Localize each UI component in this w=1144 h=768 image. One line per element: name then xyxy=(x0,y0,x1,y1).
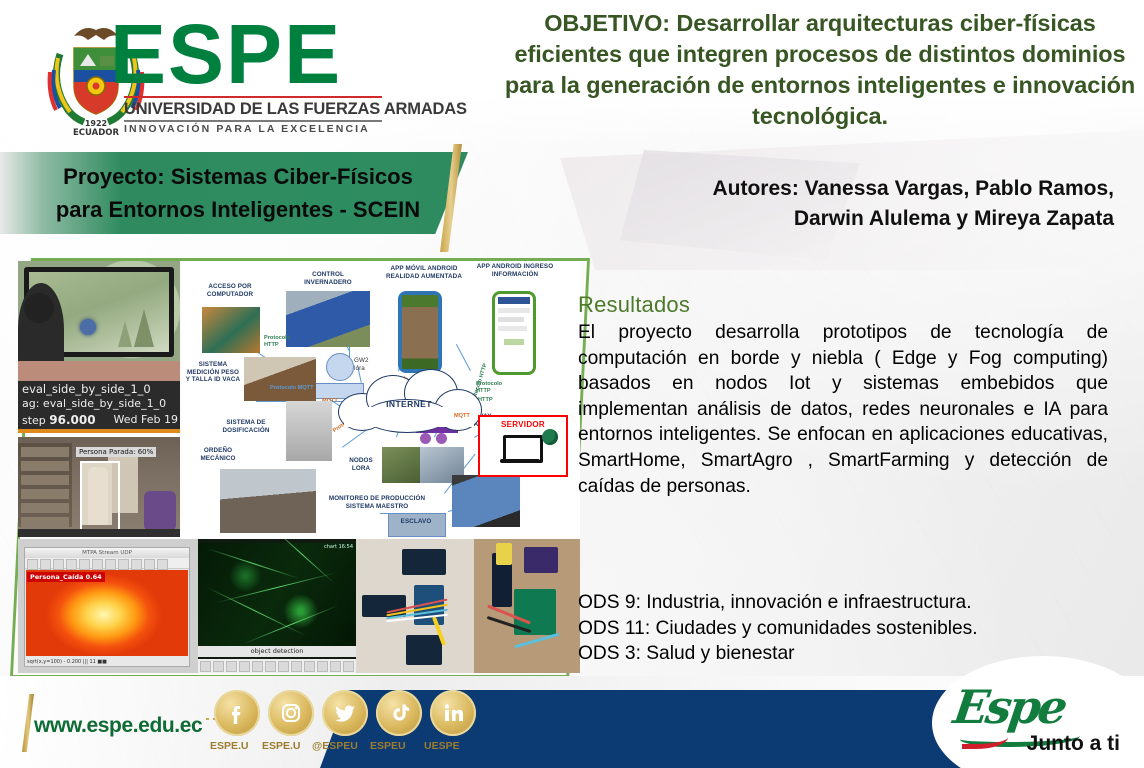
photo-object-detection: chart 16:54 object detection xyxy=(198,539,356,673)
internet-cloud: INTERNET xyxy=(334,369,484,433)
toolbar-button[interactable] xyxy=(131,559,142,570)
social-media-row: ESPE.U ESPE.U @ESPEU ESPEU xyxy=(214,690,474,752)
espe-wordmark-text: ESPE xyxy=(110,8,410,100)
instagram-icon[interactable] xyxy=(268,690,314,736)
collage-content: eval_side_by_side_1_0 ag: eval_side_by_s… xyxy=(18,261,580,673)
tiktok-icon[interactable] xyxy=(376,690,422,736)
diagram-label-esclavo: ESCLAVO xyxy=(388,518,444,526)
diagram-phone-info xyxy=(492,291,536,375)
toolbar-button[interactable] xyxy=(144,559,155,570)
agent-marker xyxy=(80,319,96,335)
authors-block: Autores: Vanessa Vargas, Pablo Ramos, Da… xyxy=(560,174,1130,234)
object-detection-timestamp: chart 16:54 xyxy=(324,544,353,550)
internet-cloud-label: INTERNET xyxy=(334,399,484,409)
telemetry-step: step 96.000 xyxy=(22,413,96,427)
tiktok-label: ESPEU xyxy=(370,740,406,752)
thermal-detection-label: Persona_Caída 0.64 xyxy=(27,572,105,582)
toolbar-button[interactable] xyxy=(157,559,168,570)
facebook-label: ESPE.U xyxy=(210,740,249,752)
project-title-banner: Proyecto: Sistemas Ciber-Físicos para En… xyxy=(0,152,500,234)
results-body: El proyecto desarrolla prototipos de tec… xyxy=(578,320,1108,499)
results-section: Resultados El proyecto desarrolla protot… xyxy=(578,292,1108,499)
photo-telemetry-overlay: eval_side_by_side_1_0 ag: eval_side_by_s… xyxy=(18,381,180,433)
tree-shape-2 xyxy=(118,321,132,347)
toolbar-button[interactable] xyxy=(27,559,38,570)
diagram-label-acceso-computador: ACCESO POR COMPUTADOR xyxy=(192,283,268,298)
toolbar-button[interactable] xyxy=(118,559,129,570)
desk-surface xyxy=(18,361,180,381)
espe-institutional-logo: 1922 ECUADOR ESPE UNIVERSIDAD DE LAS FUE… xyxy=(0,0,470,150)
telemetry-run-name: eval_side_by_side_1_0 xyxy=(22,382,151,396)
thermal-window-title: MTPA Stream UDP xyxy=(25,548,189,558)
telemetry-progress-bar xyxy=(18,429,180,433)
photo-sensor-hardware-1 xyxy=(356,539,474,673)
bag-shape xyxy=(144,491,176,531)
diagram-photo-laptop xyxy=(452,475,520,527)
telemetry-date: Wed Feb 19 xyxy=(114,413,178,426)
diagram-label-app-ar: APP MÓVIL ANDROID REALIDAD AUMENTADA xyxy=(378,265,470,280)
ods-list: ODS 9: Industria, innovación e infraestr… xyxy=(578,590,1108,667)
toolbar-button[interactable] xyxy=(79,559,90,570)
diagram-photo-dosificacion xyxy=(286,401,332,461)
twitter-icon[interactable] xyxy=(322,690,368,736)
toolbar-button[interactable] xyxy=(226,661,237,672)
toolbar-button[interactable] xyxy=(53,559,64,570)
diagram-photo-medicion xyxy=(244,357,316,401)
connector xyxy=(456,344,471,371)
architecture-diagram: ACCESO POR COMPUTADOR CONTROL INVERNADER… xyxy=(182,261,580,539)
logo-slogan-line: INNOVACIÓN PARA LA EXCELENCIA xyxy=(124,123,386,135)
os-taskbar: Actividades Unknown > xyxy=(18,529,180,537)
diagram-label-ordeno: ORDEÑO MECÁNICO xyxy=(188,447,248,462)
toolbar-button[interactable] xyxy=(265,661,276,672)
object-detection-image xyxy=(198,543,356,653)
diagram-label-monitoreo: MONITOREO DE PRODUCCIÓN SISTEMA MAESTRO xyxy=(328,495,426,510)
toolbar-button[interactable] xyxy=(213,661,224,672)
detection-bounding-box xyxy=(80,461,120,535)
object-detection-caption: object detection xyxy=(198,646,356,657)
thermal-window: MTPA Stream UDP Persona_Caída 0.64 sqrt(… xyxy=(24,547,190,667)
toolbar-button[interactable] xyxy=(278,661,289,672)
twitter-label: @ESPEU xyxy=(312,740,358,752)
diagram-protocol-mqtt-5: MQTT xyxy=(454,413,470,419)
espe-junto-a-ti-logo: Espe Junto a ti xyxy=(946,680,1126,758)
linkedin-label: UESPE xyxy=(424,740,460,752)
object-detection-toolbar[interactable] xyxy=(198,659,356,673)
detection-label: Persona Parada: 60% xyxy=(76,447,156,457)
toolbar-button[interactable] xyxy=(252,661,263,672)
facebook-icon[interactable] xyxy=(214,690,260,736)
logo-red-rule xyxy=(124,96,382,98)
diagram-gateway-antenna-1 xyxy=(420,433,431,444)
diagram-photo-acceso xyxy=(202,307,260,353)
photo-thermal-fall-detection: MTPA Stream UDP Persona_Caída 0.64 sqrt(… xyxy=(18,539,198,673)
poster-canvas: 1922 ECUADOR ESPE UNIVERSIDAD DE LAS FUE… xyxy=(0,0,1144,768)
svg-text:1922: 1922 xyxy=(85,119,107,128)
toolbar-button[interactable] xyxy=(330,661,341,672)
toolbar-button[interactable] xyxy=(291,661,302,672)
telemetry-step-value: 96.000 xyxy=(49,413,95,427)
diagram-label-app-info: APP ANDROID INGRESO INFORMACIÓN xyxy=(476,263,554,278)
toolbar-button[interactable] xyxy=(343,661,354,672)
banner-line-1: Proyecto: Sistemas Ciber-Físicos xyxy=(28,160,448,193)
diagram-protocol-mqtt-2: Protocolo MQTT xyxy=(270,385,314,392)
ods-item: ODS 9: Industria, innovación e infraestr… xyxy=(578,590,1108,616)
authors-line-1: Autores: Vanessa Vargas, Pablo Ramos, xyxy=(560,174,1114,204)
objective-text: OBJETIVO: Desarrollar arquitecturas cibe… xyxy=(500,8,1140,132)
image-collage-frame: eval_side_by_side_1_0 ag: eval_side_by_s… xyxy=(10,258,590,678)
logo-university-line: UNIVERSIDAD DE LAS FUERZAS ARMADAS xyxy=(124,100,386,119)
banner-text: Proyecto: Sistemas Ciber-Físicos para En… xyxy=(28,160,448,226)
diagram-label-nodos-lora: NODOS LORA xyxy=(342,457,380,472)
ods-item: ODS 11: Ciudades y comunidades sostenibl… xyxy=(578,616,1108,642)
toolbar-button[interactable] xyxy=(304,661,315,672)
photo-rl-simulation xyxy=(18,261,180,381)
photo-sensor-hardware-2 xyxy=(474,539,580,673)
diagram-phone-ar xyxy=(398,291,442,373)
logo-grey-rule xyxy=(124,120,382,122)
globe-icon xyxy=(542,429,558,445)
toolbar-button[interactable] xyxy=(40,559,51,570)
toolbar-button[interactable] xyxy=(92,559,103,570)
footer: www.espe.edu.ec ESPE.U ESPE.U @ESPEU xyxy=(0,676,1144,768)
toolbar-button[interactable] xyxy=(200,661,211,672)
server-box: SERVIDOR xyxy=(478,415,568,477)
diagram-label-control-invernadero: CONTROL INVERNADERO xyxy=(290,271,366,286)
toolbar-button[interactable] xyxy=(66,559,77,570)
server-label: SERVIDOR xyxy=(480,420,566,429)
toolbar-button[interactable] xyxy=(105,559,116,570)
linkedin-icon[interactable] xyxy=(430,690,476,736)
laptop-icon xyxy=(500,435,540,463)
thermal-heatmap-image xyxy=(26,570,188,656)
espe-script-wordmark: Espe xyxy=(950,680,1128,734)
svg-text:ECUADOR: ECUADOR xyxy=(73,128,120,138)
shelf-shape xyxy=(18,443,72,527)
person-head xyxy=(24,293,54,323)
diagram-label-dosificacion: SISTEMA DE DOSIFICACIÓN xyxy=(212,419,280,434)
diagram-protocol-http-1: Protocolo HTTP xyxy=(264,335,304,348)
diagram-protocol-http-4: HTTP xyxy=(478,397,493,404)
instagram-label: ESPE.U xyxy=(262,740,301,752)
telemetry-step-label: step xyxy=(22,414,46,427)
espe-wordmark: ESPE xyxy=(110,8,410,100)
toolbar-button[interactable] xyxy=(239,661,250,672)
thermal-toolbar[interactable] xyxy=(25,558,189,569)
telemetry-tag: ag: eval_side_by_side_1_0 xyxy=(22,397,166,410)
authors-line-2: Darwin Alulema y Mireya Zapata xyxy=(560,204,1114,234)
thermal-status-bar: sqrt(x,y=100) - 0.200 ||| 11 ■■ xyxy=(27,659,107,665)
diagram-label-medicion: SISTEMA MEDICIÓN PESO Y TALLA ID VACA xyxy=(184,361,242,384)
photo-fall-detection: Persona Parada: 60% Actividades Unknown … xyxy=(18,437,180,537)
espe-tagline: Junto a ti xyxy=(1027,732,1120,756)
diagram-photo-ordeno xyxy=(220,469,316,533)
website-url[interactable]: www.espe.edu.ec xyxy=(34,714,202,738)
diagram-photo-nodo-1 xyxy=(382,447,420,483)
banner-line-2: para Entornos Inteligentes - SCEIN xyxy=(28,193,448,226)
tree-shape-1 xyxy=(134,309,154,347)
toolbar-button[interactable] xyxy=(317,661,328,672)
diagram-gateway-antenna-2 xyxy=(436,433,447,444)
results-heading: Resultados xyxy=(578,292,1108,318)
